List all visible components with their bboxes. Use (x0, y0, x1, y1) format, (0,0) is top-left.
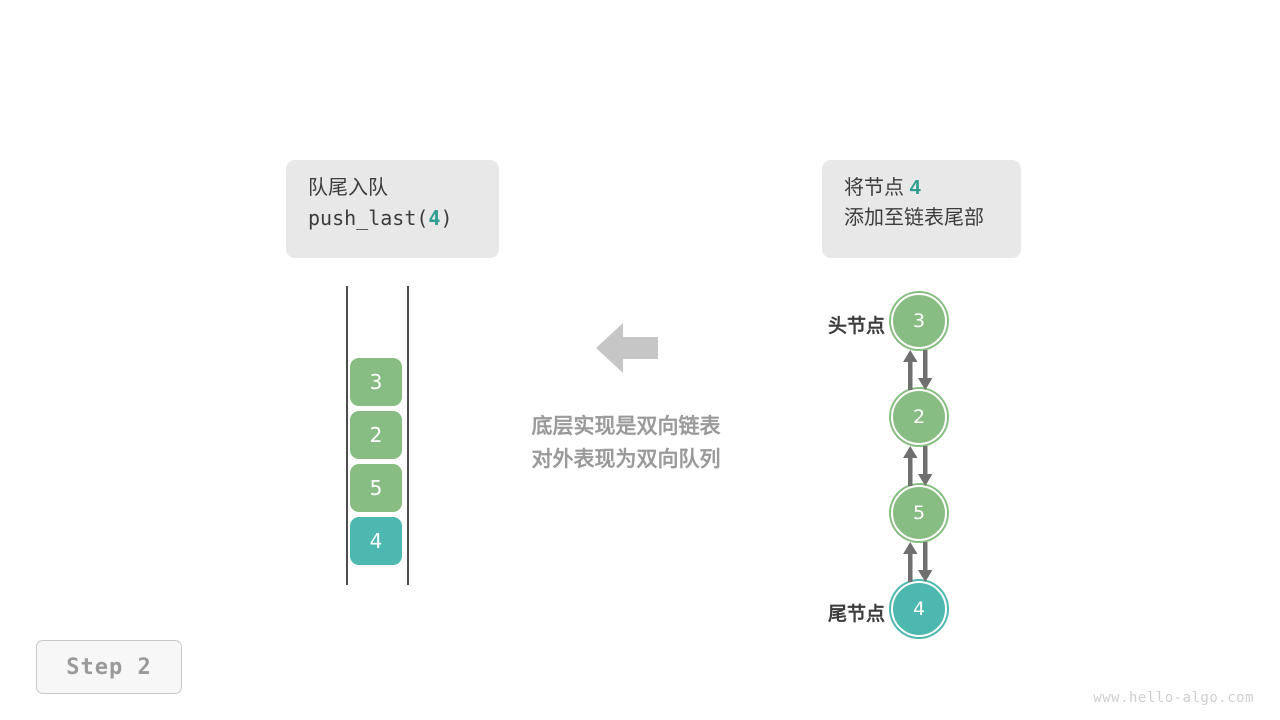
center-caption: 底层实现是双向链表 对外表现为双向队列 (470, 410, 782, 476)
queue-cell-2-value: 5 (370, 476, 383, 500)
callout-append-node: 将节点 4 添加至链表尾部 (822, 160, 1021, 258)
queue-cell-2: 5 (350, 464, 402, 512)
link-arrows-0-1 (899, 350, 939, 390)
center-caption-line1: 底层实现是双向链表 (470, 410, 782, 443)
queue-rail-left (346, 286, 348, 585)
step-badge-label: Step 2 (66, 655, 151, 680)
queue-cell-1-value: 2 (370, 423, 383, 447)
list-node-2: 5 (891, 485, 947, 541)
queue-cell-3: 4 (350, 517, 402, 565)
callout-left-line1: 队尾入队 (308, 174, 477, 204)
watermark: www.hello-algo.com (1093, 690, 1254, 706)
callout-right-line2: 添加至链表尾部 (844, 204, 999, 234)
callout-left-line2: push_last(4) (308, 204, 477, 234)
callout-right-line1: 将节点 4 (844, 174, 999, 204)
list-node-head-value: 3 (913, 310, 925, 332)
append-value: 4 (910, 177, 921, 199)
queue-cell-3-value: 4 (370, 529, 383, 553)
link-arrows-1-2 (899, 446, 939, 486)
callout-push-last: 队尾入队 push_last(4) (286, 160, 499, 258)
queue-cell-0-value: 3 (370, 370, 383, 394)
queue-cell-0: 3 (350, 358, 402, 406)
list-node-2-value: 5 (913, 502, 925, 524)
queue-container: 3 2 5 4 (330, 280, 430, 600)
push-last-value: 4 (428, 206, 440, 230)
step-badge: Step 2 (36, 640, 182, 694)
list-node-1: 2 (891, 389, 947, 445)
queue-rail-right (407, 286, 409, 585)
queue-cell-1: 2 (350, 411, 402, 459)
linked-list-container: 头节点 尾节点 3 2 5 4 (770, 280, 1000, 650)
tail-node-label: 尾节点 (775, 599, 885, 626)
list-node-tail: 4 (891, 581, 947, 637)
list-node-1-value: 2 (913, 406, 925, 428)
center-caption-line2: 对外表现为双向队列 (470, 443, 782, 476)
push-last-suffix: ) (440, 206, 452, 230)
append-prefix: 将节点 (844, 177, 910, 199)
flow-arrow-left-icon (596, 320, 658, 376)
list-node-head: 3 (891, 293, 947, 349)
diagram-canvas: 队尾入队 push_last(4) 将节点 4 添加至链表尾部 3 2 5 4 … (0, 0, 1280, 720)
push-last-prefix: push_last( (308, 206, 428, 230)
head-node-label: 头节点 (775, 311, 885, 338)
list-node-tail-value: 4 (913, 598, 925, 620)
link-arrows-2-3 (899, 542, 939, 582)
